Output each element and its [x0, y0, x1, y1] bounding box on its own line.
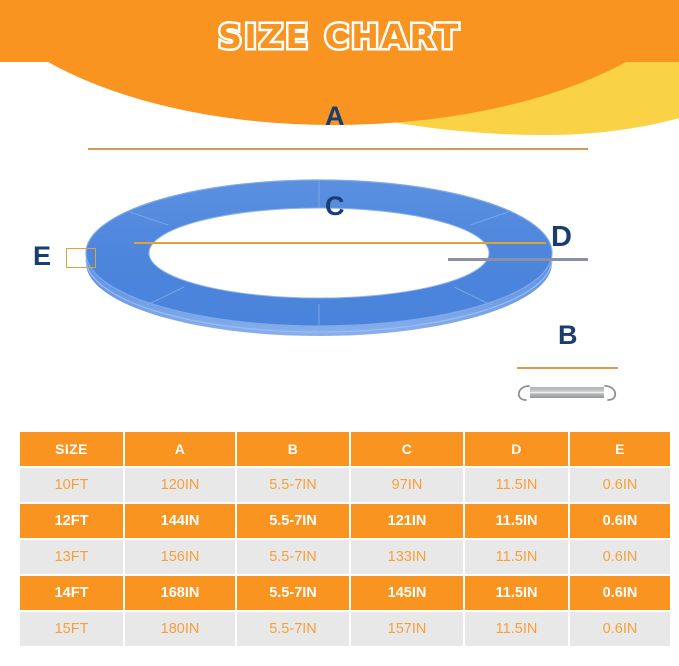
cell-c: 133IN — [351, 540, 463, 574]
dimension-label-b: B — [558, 322, 578, 349]
cell-c: 97IN — [351, 468, 463, 502]
dimension-label-a: A — [325, 103, 345, 130]
dimension-line-d — [448, 258, 588, 261]
cell-size: 13FT — [20, 540, 123, 574]
table-row: 12FT 144IN 5.5-7IN 121IN 11.5IN 0.6IN — [20, 504, 670, 538]
table-row: 10FT 120IN 5.5-7IN 97IN 11.5IN 0.6IN — [20, 468, 670, 502]
trampoline-spring-icon — [512, 380, 622, 406]
column-header-e: E — [570, 432, 670, 466]
dimension-line-a — [88, 148, 588, 150]
dimension-bracket-e — [66, 248, 96, 268]
cell-d: 11.5IN — [465, 504, 568, 538]
product-diagram: A — [0, 95, 679, 425]
dimension-label-e: E — [33, 243, 51, 270]
cell-size: 15FT — [20, 612, 123, 646]
column-header-a: A — [125, 432, 235, 466]
trampoline-pad-ring-icon — [84, 175, 554, 350]
column-header-d: D — [465, 432, 568, 466]
column-header-b: B — [237, 432, 349, 466]
cell-e: 0.6IN — [570, 468, 670, 502]
cell-e: 0.6IN — [570, 540, 670, 574]
cell-c: 121IN — [351, 504, 463, 538]
cell-e: 0.6IN — [570, 612, 670, 646]
cell-d: 11.5IN — [465, 468, 568, 502]
table-row: 15FT 180IN 5.5-7IN 157IN 11.5IN 0.6IN — [20, 612, 670, 646]
size-chart-page: SIZE CHART A — [0, 0, 679, 666]
cell-a: 180IN — [125, 612, 235, 646]
cell-a: 120IN — [125, 468, 235, 502]
cell-b: 5.5-7IN — [237, 612, 349, 646]
page-title-wrap: SIZE CHART — [0, 17, 679, 56]
cell-b: 5.5-7IN — [237, 468, 349, 502]
cell-b: 5.5-7IN — [237, 576, 349, 610]
dimension-label-c: C — [325, 193, 345, 220]
table-row: 14FT 168IN 5.5-7IN 145IN 11.5IN 0.6IN — [20, 576, 670, 610]
page-title: SIZE CHART — [218, 17, 461, 56]
cell-c: 145IN — [351, 576, 463, 610]
cell-e: 0.6IN — [570, 576, 670, 610]
cell-a: 156IN — [125, 540, 235, 574]
cell-a: 144IN — [125, 504, 235, 538]
size-chart-table-wrap: SIZE A B C D E 10FT 120IN 5.5-7IN 97IN 1… — [18, 430, 662, 648]
cell-d: 11.5IN — [465, 576, 568, 610]
column-header-c: C — [351, 432, 463, 466]
cell-d: 11.5IN — [465, 540, 568, 574]
cell-d: 11.5IN — [465, 612, 568, 646]
dimension-line-b — [517, 367, 618, 369]
cell-a: 168IN — [125, 576, 235, 610]
cell-c: 157IN — [351, 612, 463, 646]
dimension-line-c — [134, 242, 546, 244]
cell-b: 5.5-7IN — [237, 504, 349, 538]
cell-e: 0.6IN — [570, 504, 670, 538]
cell-b: 5.5-7IN — [237, 540, 349, 574]
cell-size: 14FT — [20, 576, 123, 610]
column-header-size: SIZE — [20, 432, 123, 466]
size-chart-table: SIZE A B C D E 10FT 120IN 5.5-7IN 97IN 1… — [18, 430, 672, 648]
table-row: 13FT 156IN 5.5-7IN 133IN 11.5IN 0.6IN — [20, 540, 670, 574]
table-header-row: SIZE A B C D E — [20, 432, 670, 466]
cell-size: 12FT — [20, 504, 123, 538]
cell-size: 10FT — [20, 468, 123, 502]
dimension-label-d: D — [551, 223, 572, 252]
